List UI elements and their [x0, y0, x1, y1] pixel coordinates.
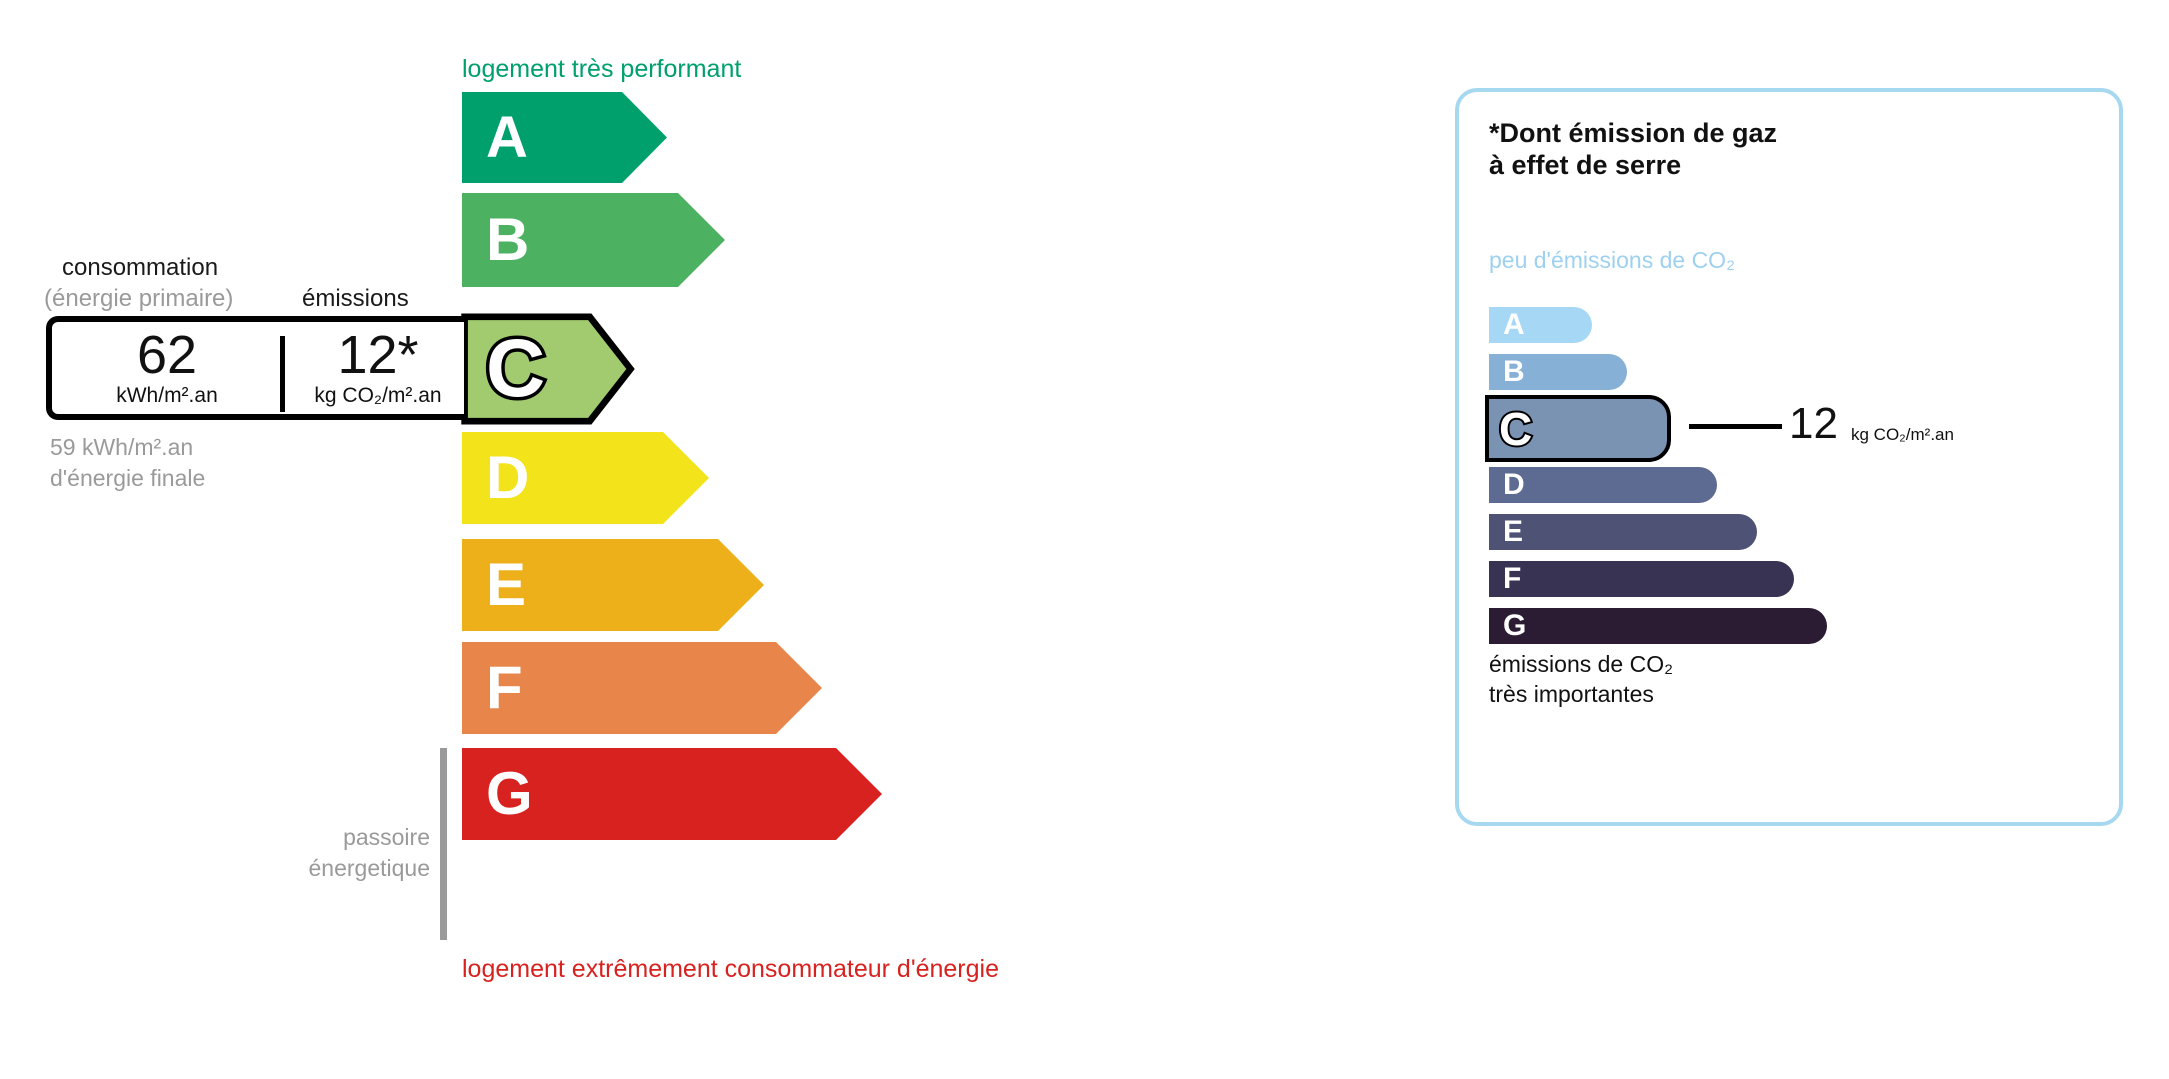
ges-title-line-2: à effet de serre: [1489, 150, 1777, 182]
ges-class-row-d[interactable]: D: [1489, 467, 1717, 503]
consumption-label-secondary: (énergie primaire): [44, 285, 233, 313]
energy-class-letter-g: G: [486, 764, 533, 824]
energy-class-row-g[interactable]: G: [462, 748, 882, 840]
final-energy-value: 59 kWh/m².an: [50, 432, 205, 463]
emissions-value: 12*: [292, 328, 464, 382]
emissions-unit: kg CO₂/m².an: [292, 384, 464, 408]
energy-class-letter-f: F: [486, 658, 523, 718]
consumption-unit: kWh/m².an: [60, 384, 274, 408]
energy-class-letter-d: D: [486, 448, 529, 508]
energy-class-letter-b: B: [486, 210, 529, 270]
energy-class-letter-e: E: [486, 555, 526, 615]
value-divider: [280, 336, 285, 412]
energy-class-letter-a: A: [486, 109, 528, 167]
ges-value: 12: [1789, 402, 1838, 446]
ges-class-letter-d: D: [1503, 470, 1525, 500]
ges-unit: kg CO₂/m².an: [1851, 426, 1954, 443]
energy-class-letter-c: C: [486, 328, 545, 410]
passoire-note: passoire énergetique: [190, 822, 430, 884]
top-caption: logement très performant: [462, 55, 741, 84]
value-box: 62 kWh/m².an 12* kg CO₂/m².an: [46, 316, 464, 420]
consumption-label-primary: consommation: [62, 254, 218, 282]
ges-class-row-g[interactable]: G: [1489, 608, 1827, 644]
bottom-caption: logement extrêmement consommateur d'éner…: [462, 955, 999, 984]
ges-title: *Dont émission de gaz à effet de serre: [1489, 118, 1777, 182]
ges-bottom-line-1: émissions de CO₂: [1489, 650, 1673, 680]
energy-class-row-e[interactable]: E: [462, 539, 764, 631]
ges-panel: *Dont émission de gaz à effet de serre p…: [1455, 88, 2123, 826]
ges-class-row-b[interactable]: B: [1489, 354, 1627, 390]
energy-class-row-d[interactable]: D: [462, 432, 709, 524]
ges-class-row-f[interactable]: F: [1489, 561, 1794, 597]
ges-class-row-c[interactable]: C: [1485, 395, 1671, 462]
ges-class-letter-a: A: [1503, 310, 1525, 340]
ges-class-letter-c: C: [1499, 406, 1532, 452]
emissions-label: émissions: [302, 285, 409, 313]
energy-ladder: logement très performant A B C: [0, 0, 1400, 1079]
final-energy-text: d'énergie finale: [50, 463, 205, 494]
energy-class-row-b[interactable]: B: [462, 193, 725, 287]
emissions-value-cell: 12* kg CO₂/m².an: [292, 328, 464, 408]
ges-class-row-e[interactable]: E: [1489, 514, 1757, 550]
passoire-bracket: [440, 748, 447, 940]
ges-class-letter-e: E: [1503, 517, 1523, 547]
consumption-value-cell: 62 kWh/m².an: [60, 328, 274, 408]
ges-class-letter-f: F: [1503, 564, 1521, 594]
passoire-line-1: passoire: [190, 822, 430, 853]
ges-bottom-line-2: très importantes: [1489, 680, 1673, 710]
energy-class-row-f[interactable]: F: [462, 642, 822, 734]
passoire-line-2: énergetique: [190, 853, 430, 884]
ges-leader-line: [1689, 424, 1782, 429]
ges-class-letter-g: G: [1503, 611, 1526, 641]
ges-title-line-1: *Dont émission de gaz: [1489, 118, 1777, 150]
energy-class-row-a[interactable]: A: [462, 92, 667, 183]
consumption-value: 62: [60, 328, 274, 382]
ges-top-caption: peu d'émissions de CO₂: [1489, 247, 1735, 274]
ges-class-row-a[interactable]: A: [1489, 307, 1592, 343]
ges-class-letter-b: B: [1503, 357, 1525, 387]
energy-class-row-c[interactable]: C: [460, 314, 638, 424]
final-energy-note: 59 kWh/m².an d'énergie finale: [50, 432, 205, 494]
dpe-diagram: logement très performant A B C: [0, 0, 2169, 1079]
ges-bottom-caption: émissions de CO₂ très importantes: [1489, 650, 1673, 710]
